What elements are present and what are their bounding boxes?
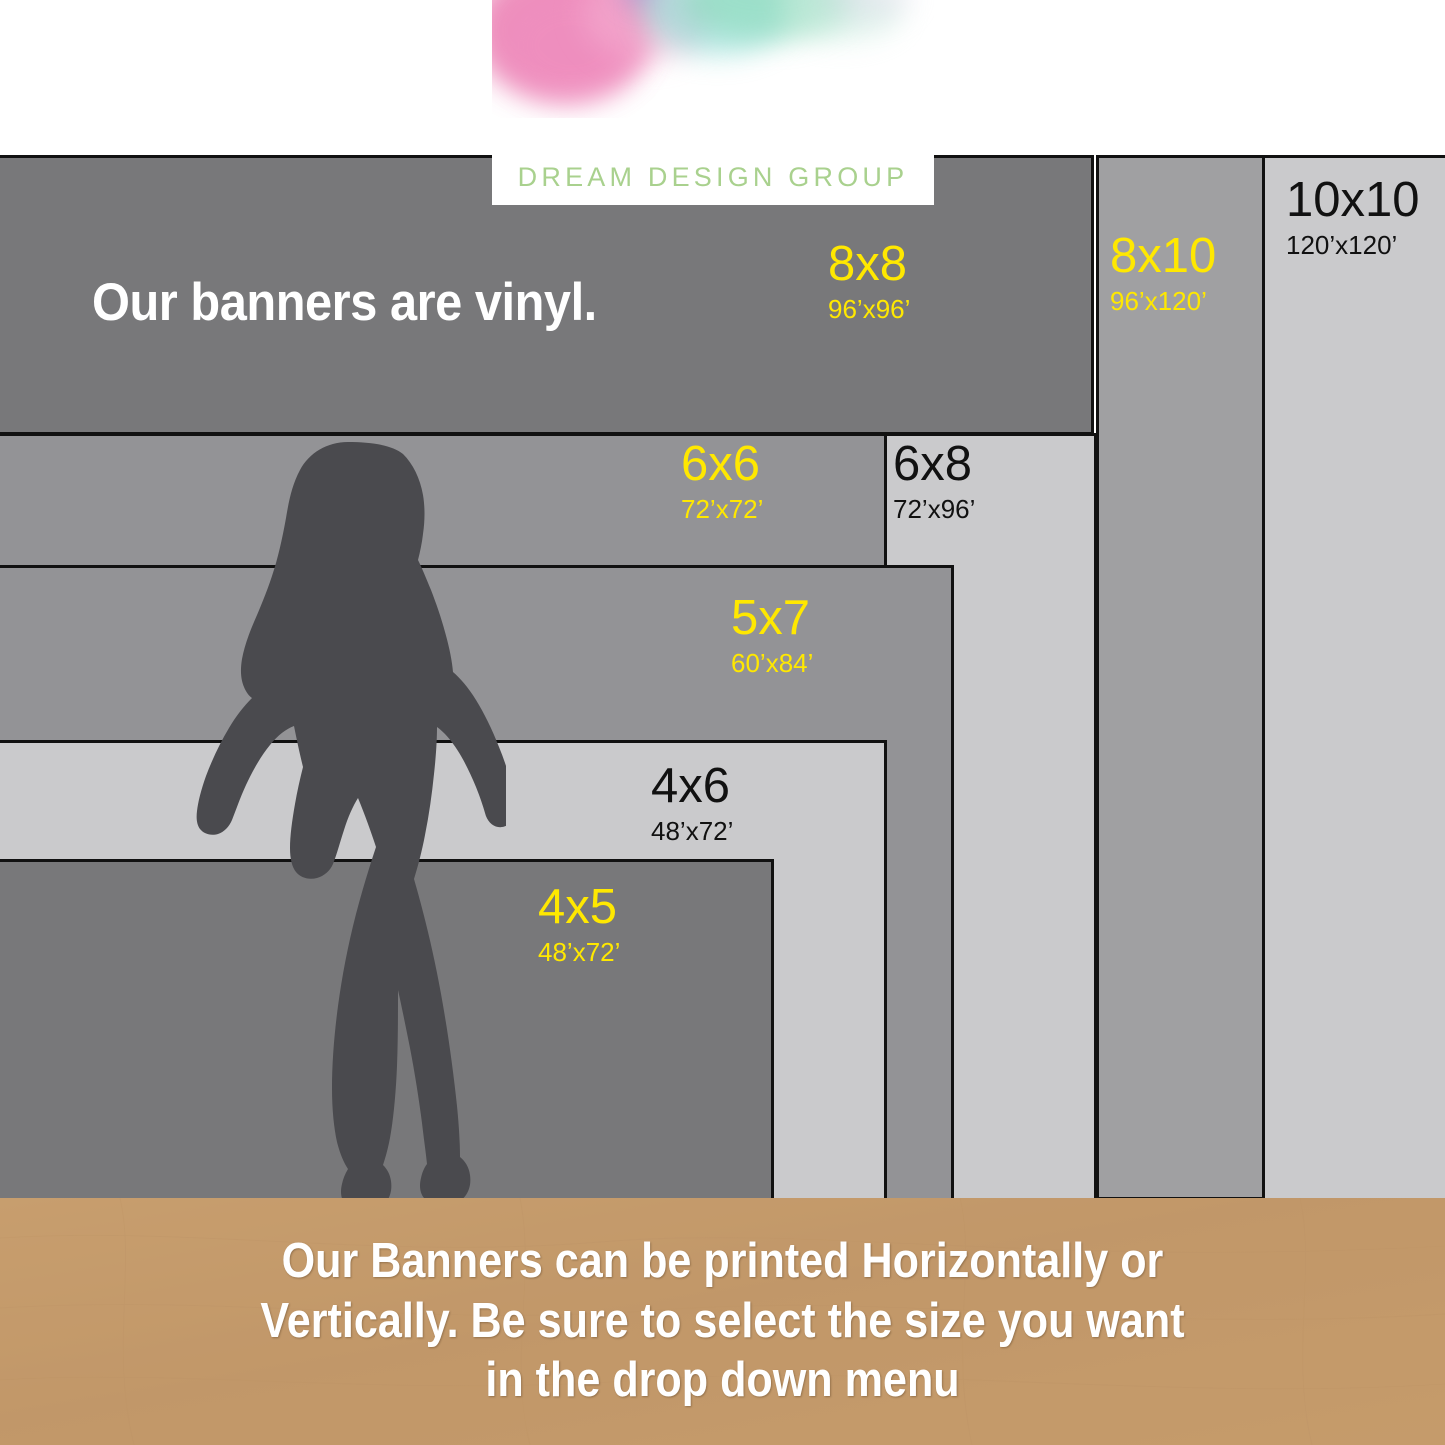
size-label-8x8: 8x8 96’x96’ bbox=[828, 240, 910, 322]
banner-size-chart: 10x10 120’x120’ 8x10 96’x120’ 8x8 96’x96… bbox=[0, 0, 1445, 1445]
size-label-6x8-dims: 72’x96’ bbox=[893, 496, 975, 522]
size-label-4x5: 4x5 48’x72’ bbox=[538, 883, 620, 965]
size-label-4x6-name: 4x6 bbox=[651, 762, 733, 811]
woman-silhouette bbox=[196, 440, 506, 1230]
brand-logo: DREAM DESIGN GROUP bbox=[492, 0, 934, 205]
size-label-10x10-name: 10x10 bbox=[1286, 176, 1420, 225]
size-label-10x10: 10x10 120’x120’ bbox=[1286, 176, 1420, 258]
size-label-8x10-dims: 96’x120’ bbox=[1110, 288, 1216, 314]
footer-line-2: Vertically. Be sure to select the size y… bbox=[260, 1292, 1184, 1352]
size-label-10x10-dims: 120’x120’ bbox=[1286, 232, 1420, 258]
size-label-5x7-name: 5x7 bbox=[731, 594, 813, 643]
size-label-8x10-name: 8x10 bbox=[1110, 232, 1216, 281]
size-label-8x8-name: 8x8 bbox=[828, 240, 910, 289]
size-label-6x6-dims: 72’x72’ bbox=[681, 496, 763, 522]
size-label-6x6: 6x6 72’x72’ bbox=[681, 440, 763, 522]
footer-line-3: in the drop down menu bbox=[485, 1351, 959, 1411]
size-label-4x6: 4x6 48’x72’ bbox=[651, 762, 733, 844]
size-label-6x8-name: 6x8 bbox=[893, 440, 975, 489]
size-label-5x7-dims: 60’x84’ bbox=[731, 650, 813, 676]
footer-banner: Our Banners can be printed Horizontally … bbox=[0, 1198, 1445, 1445]
size-label-4x6-dims: 48’x72’ bbox=[651, 818, 733, 844]
page-title: Our banners are vinyl. bbox=[92, 272, 597, 333]
footer-text: Our Banners can be printed Horizontally … bbox=[87, 1198, 1359, 1445]
size-label-8x10: 8x10 96’x120’ bbox=[1110, 232, 1216, 314]
size-label-8x8-dims: 96’x96’ bbox=[828, 296, 910, 322]
brand-name: DREAM DESIGN GROUP bbox=[518, 162, 909, 193]
brand-name-box: DREAM DESIGN GROUP bbox=[492, 150, 934, 205]
size-label-4x5-name: 4x5 bbox=[538, 883, 620, 932]
size-label-6x8: 6x8 72’x96’ bbox=[893, 440, 975, 522]
footer-line-1: Our Banners can be printed Horizontally … bbox=[282, 1232, 1164, 1292]
size-label-6x6-name: 6x6 bbox=[681, 440, 763, 489]
size-label-4x5-dims: 48’x72’ bbox=[538, 939, 620, 965]
watercolor-splash-icon bbox=[492, 0, 934, 118]
size-label-5x7: 5x7 60’x84’ bbox=[731, 594, 813, 676]
size-block-10x10[interactable] bbox=[1262, 155, 1445, 1200]
